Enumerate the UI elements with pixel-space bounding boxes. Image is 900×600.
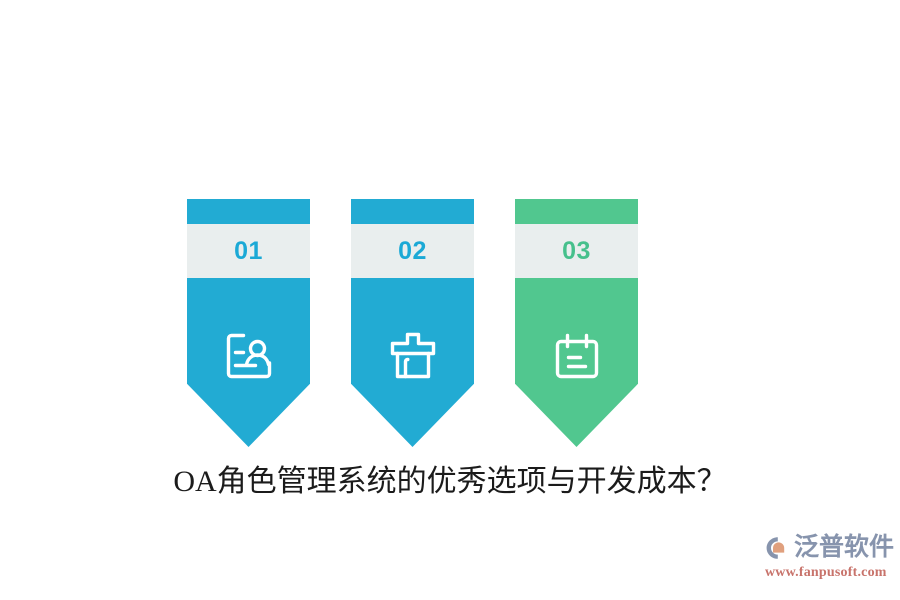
banner-01[interactable]: 01 — [187, 199, 310, 447]
banner-01-number-band: 01 — [187, 224, 310, 278]
banner-02-number: 02 — [398, 239, 427, 264]
watermark-url: www.fanpusoft.com — [765, 564, 897, 582]
notepad-icon — [515, 325, 638, 387]
banner-group: 01 02 — [187, 199, 638, 447]
id-card-person-icon — [187, 325, 310, 387]
watermark: 泛普软件 www.fanpusoft.com — [765, 533, 897, 585]
banner-02-number-band: 02 — [351, 224, 474, 278]
watermark-brand-name: 泛普软件 — [794, 535, 894, 561]
banner-03[interactable]: 03 — [515, 199, 638, 447]
banner-02[interactable]: 02 — [351, 199, 474, 447]
infographic-canvas: 01 02 — [0, 0, 900, 600]
storefront-icon — [351, 325, 474, 387]
page-title: OA角色管理系统的优秀选项与开发成本？ — [0, 462, 900, 502]
fanpu-logo-icon — [765, 535, 791, 561]
watermark-brand-row: 泛普软件 — [765, 533, 897, 563]
banner-03-number-band: 03 — [515, 224, 638, 278]
banner-03-number: 03 — [562, 239, 591, 264]
banner-01-number: 01 — [234, 239, 263, 264]
